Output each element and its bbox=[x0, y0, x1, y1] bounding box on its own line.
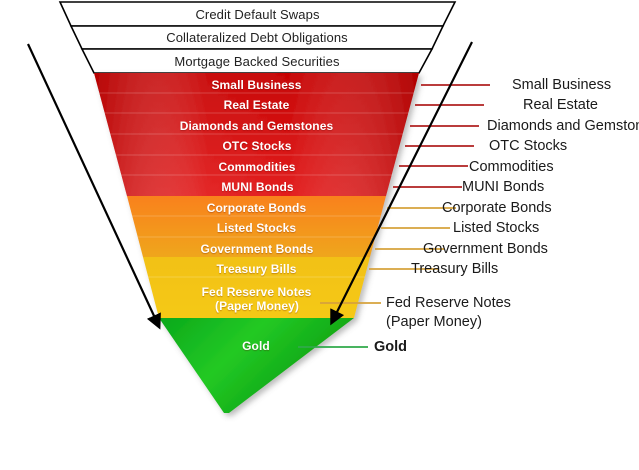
band-label-fed-reserve-notes: Fed Reserve Notes bbox=[148, 285, 365, 299]
band-label-paper-money: (Paper Money) bbox=[152, 299, 362, 313]
band-label-gold: Gold bbox=[176, 339, 336, 353]
callout-label-otc-stocks: OTC Stocks bbox=[489, 138, 567, 154]
band-label-otc-stocks: OTC Stocks bbox=[110, 139, 404, 153]
callout-label-small-business: Small Business bbox=[512, 77, 611, 93]
box-label-collateralized-debt-obligations: Collateralized Debt Obligations bbox=[71, 30, 443, 45]
band-label-corporate-bonds: Corporate Bonds bbox=[127, 201, 386, 215]
pyramid-green-apex bbox=[159, 318, 354, 413]
callout-label-gold: Gold bbox=[374, 339, 407, 355]
diagram-canvas: Credit Default Swaps Collateralized Debt… bbox=[0, 0, 639, 470]
callout-label-government-bonds: Government Bonds bbox=[423, 241, 548, 257]
callout-label-paper-money: (Paper Money) bbox=[386, 314, 482, 330]
band-label-listed-stocks: Listed Stocks bbox=[132, 221, 381, 235]
callout-label-treasury-bills: Treasury Bills bbox=[411, 261, 498, 277]
callout-label-diamonds-and-gemstones: Diamonds and Gemstones bbox=[487, 118, 639, 134]
box-label-credit-default-swaps: Credit Default Swaps bbox=[60, 7, 455, 22]
callout-label-commodities: Commodities bbox=[469, 159, 554, 175]
callout-label-listed-stocks: Listed Stocks bbox=[453, 220, 539, 236]
callout-label-real-estate: Real Estate bbox=[523, 97, 598, 113]
callout-label-muni-bonds: MUNI Bonds bbox=[462, 179, 544, 195]
inverted-pyramid-graphic bbox=[0, 0, 639, 470]
callout-label-fed-reserve-notes: Fed Reserve Notes bbox=[386, 295, 511, 311]
band-label-treasury-bills: Treasury Bills bbox=[143, 262, 370, 276]
band-label-diamonds-and-gemstones: Diamonds and Gemstones bbox=[104, 119, 409, 133]
band-label-small-business: Small Business bbox=[94, 78, 419, 92]
band-label-commodities: Commodities bbox=[115, 160, 399, 174]
band-label-government-bonds: Government Bonds bbox=[138, 242, 376, 256]
box-label-mortgage-backed-securities: Mortgage Backed Securities bbox=[82, 54, 432, 69]
band-label-muni-bonds: MUNI Bonds bbox=[121, 180, 394, 194]
callout-label-corporate-bonds: Corporate Bonds bbox=[442, 200, 552, 216]
band-label-real-estate: Real Estate bbox=[99, 98, 414, 112]
